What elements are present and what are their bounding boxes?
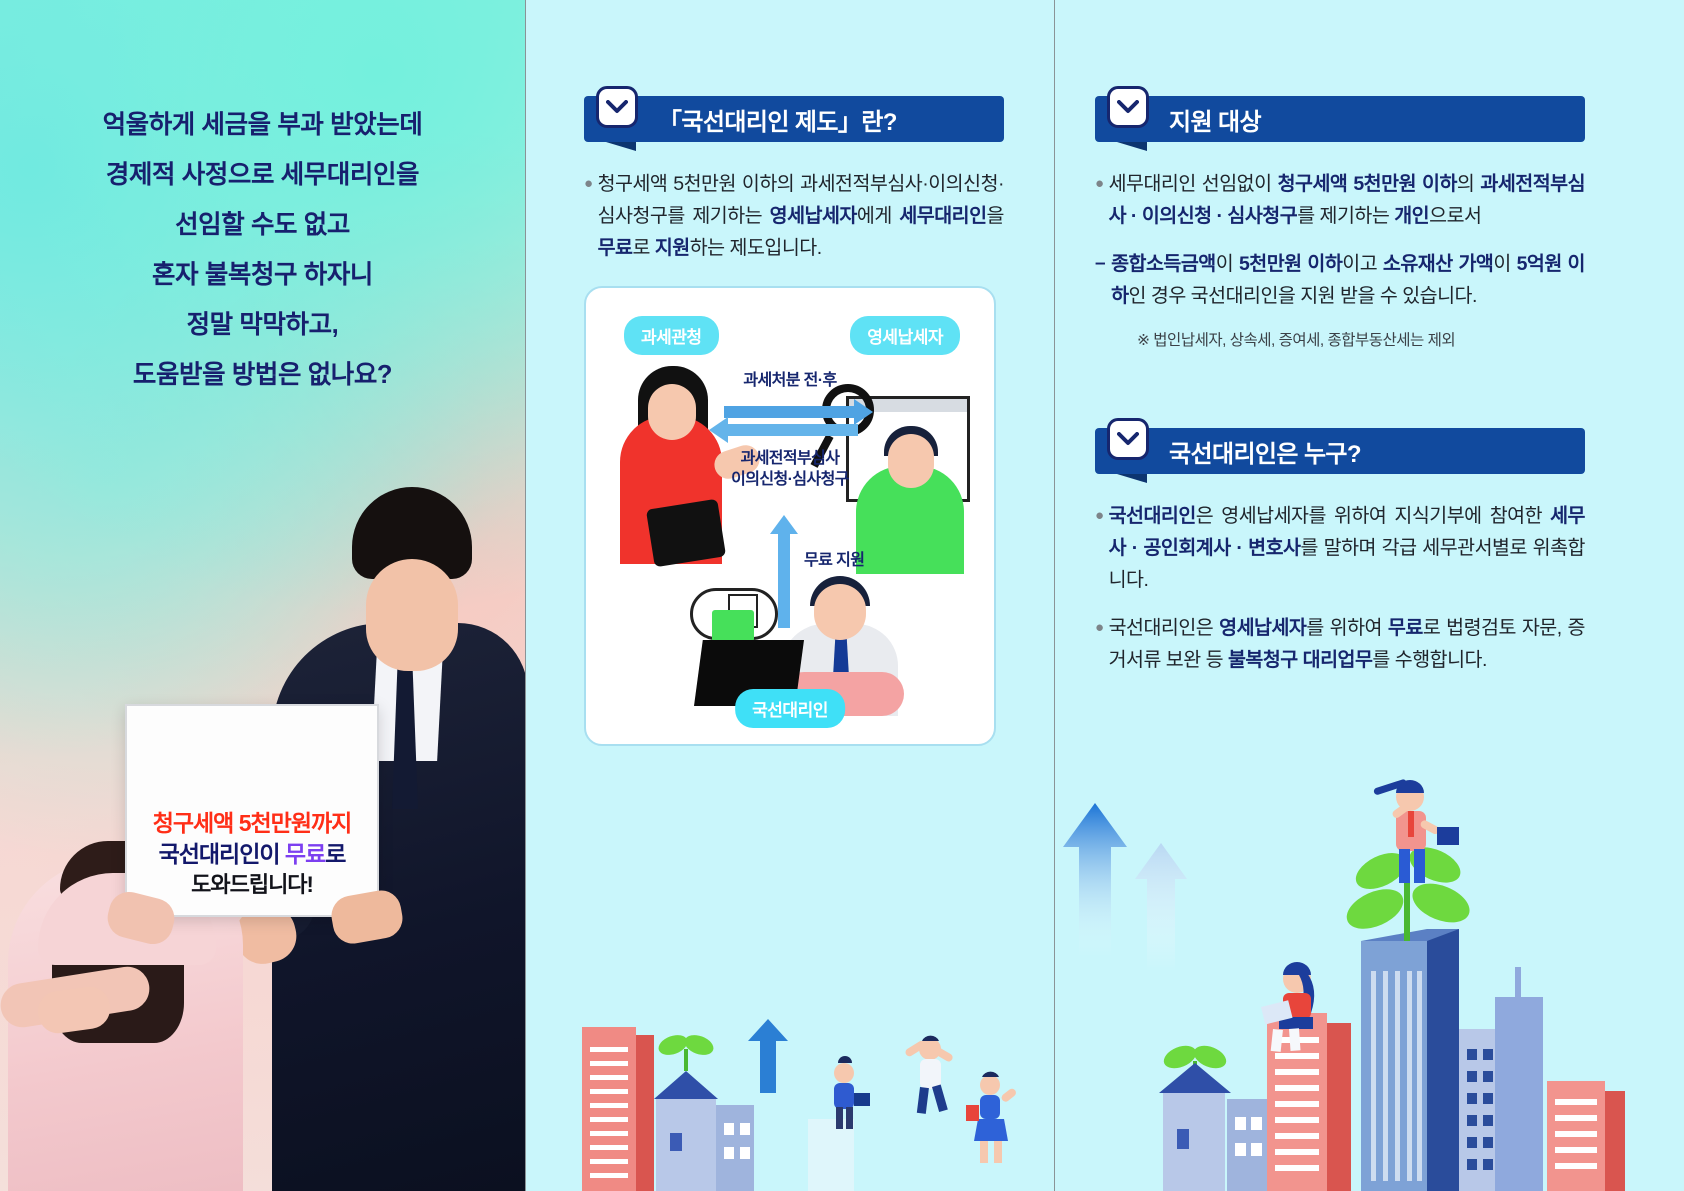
eligibility-note: ※ 법인납세자, 상속세, 증여세, 종합부동산세는 제외: [1137, 328, 1585, 350]
bullet-text: 국선대리인은 영세납세자를 위하여 지식기부에 참여한 세무사 · 공인회계사 …: [1109, 500, 1585, 596]
tax-officer-face-icon: [648, 384, 696, 440]
pill-taxpayer: 영세납세자: [850, 316, 960, 355]
placard-line-2-a: 국선대리인이: [159, 841, 285, 867]
cover-panel: 억울하게 세금을 부과 받았는데 경제적 사정으로 세무대리인을 선임할 수도 …: [0, 0, 525, 1191]
placard-line-2: 국선대리인이 무료로: [159, 839, 346, 870]
cover-headline: 억울하게 세금을 부과 받았는데 경제적 사정으로 세무대리인을 선임할 수도 …: [0, 100, 525, 400]
section-header-eligibility: 지원 대상: [1095, 96, 1585, 142]
chevron-down-icon: [1107, 418, 1149, 460]
pill-tax-office: 과세관청: [624, 316, 719, 355]
diagram-label-claims: 과세전적부심사 이의신청·심사청구: [731, 448, 849, 490]
right-panel: 지원 대상 ● 세무대리인 선임없이 청구세액 5천만원 이하의 과세전적부심사…: [1055, 0, 1684, 1191]
diagram-label-before-after: 과세처분 전·후: [743, 370, 836, 391]
middle-body: ● 청구세액 5천만원 이하의 과세전적부심사·이의신청·심사청구를 제기하는 …: [584, 168, 1004, 264]
cover-line-2: 경제적 사정으로 세무대리인을: [0, 150, 525, 200]
section-title-system: 「국선대리인 제도」란?: [658, 102, 897, 137]
placard-line-1: 청구세액 5천만원까지: [153, 808, 352, 839]
bullet-item: – 종합소득금액이 5천만원 이하이고 소유재산 가액이 5억원 이하인 경우 …: [1095, 248, 1585, 312]
section-header-system: 「국선대리인 제도」란?: [584, 96, 1004, 142]
bullet-text: 청구세액 5천만원 이하의 과세전적부심사·이의신청·심사청구를 제기하는 영세…: [598, 168, 1004, 264]
cover-line-3: 선임할 수도 없고: [0, 200, 525, 250]
bullet-text: 종합소득금액이 5천만원 이하이고 소유재산 가액이 5억원 이하인 경우 국선…: [1111, 248, 1585, 312]
middle-panel: 「국선대리인 제도」란? ● 청구세액 5천만원 이하의 과세전적부심사·이의신…: [526, 0, 1054, 1191]
bullet-item: ● 국선대리인은 영세납세자를 위하여 무료로 법령검토 자문, 증거서류 보완…: [1095, 612, 1585, 676]
bullet-dot-icon: ●: [1095, 168, 1104, 232]
brochure-page: 억울하게 세금을 부과 받았는데 경제적 사정으로 세무대리인을 선임할 수도 …: [0, 0, 1684, 1191]
bullet-item: ● 세무대리인 선임없이 청구세액 5천만원 이하의 과세전적부심사 · 이의신…: [1095, 168, 1585, 232]
bullet-dot-icon: ●: [584, 168, 593, 264]
middle-city-illustration: [526, 1001, 1054, 1191]
taxpayer-face-icon: [888, 434, 934, 488]
upload-folder-icon: [712, 610, 754, 642]
placard-line-3: 도와드립니다!: [191, 870, 313, 899]
bullet-item: ● 국선대리인은 영세납세자를 위하여 지식기부에 참여한 세무사 · 공인회계…: [1095, 500, 1585, 596]
up-arrow-icon: [778, 532, 790, 628]
who-body: ● 국선대리인은 영세납세자를 위하여 지식기부에 참여한 세무사 · 공인회계…: [1095, 500, 1585, 676]
diagram-label-claims-line2: 이의신청·심사청구: [731, 471, 849, 488]
placard-sign: 청구세액 5천만원까지 국선대리인이 무료로 도와드립니다!: [125, 704, 379, 917]
left-arrow-icon: [726, 424, 858, 436]
diagram-label-free-support: 무료 지원: [804, 550, 864, 571]
bullet-text: 세무대리인 선임없이 청구세액 5천만원 이하의 과세전적부심사 · 이의신청 …: [1109, 168, 1585, 232]
cover-line-6: 도움받을 방법은 없나요?: [0, 350, 525, 400]
process-diagram: 과세관청 영세납세자 과세처분 전·후: [584, 286, 996, 746]
right-growth-illustration: [1055, 761, 1684, 1191]
chevron-down-icon: [596, 86, 638, 128]
agent-face-icon: [814, 584, 866, 640]
section-header-who: 국선대리인은 누구?: [1095, 428, 1585, 474]
placard-free-word: 무료: [285, 841, 325, 867]
bullet-text: 국선대리인은 영세납세자를 위하여 무료로 법령검토 자문, 증거서류 보완 등…: [1109, 612, 1585, 676]
man-model-face: [366, 559, 458, 671]
cover-line-5: 정말 막막하고,: [0, 300, 525, 350]
chevron-down-icon: [1107, 86, 1149, 128]
tablet-icon: [646, 499, 726, 568]
pill-public-agent: 국선대리인: [735, 689, 845, 728]
cover-line-1: 억울하게 세금을 부과 받았는데: [0, 100, 525, 150]
bullet-dot-icon: ●: [1095, 612, 1104, 676]
bullet-item: ● 청구세액 5천만원 이하의 과세전적부심사·이의신청·심사청구를 제기하는 …: [584, 168, 1004, 264]
bullet-dash-icon: –: [1095, 248, 1105, 312]
bullet-dot-icon: ●: [1095, 500, 1104, 596]
diagram-label-claims-line1: 과세전적부심사: [741, 450, 840, 467]
person-jumping: [904, 1036, 954, 1114]
eligibility-body: ● 세무대리인 선임없이 청구세액 5천만원 이하의 과세전적부심사 · 이의신…: [1095, 168, 1585, 350]
cover-line-4: 혼자 불복청구 하자니: [0, 250, 525, 300]
person-walking: [834, 1056, 870, 1129]
section-title-eligibility: 지원 대상: [1169, 102, 1261, 137]
person-running: [966, 1072, 1018, 1163]
placard-line-2-b: 로: [325, 841, 345, 867]
right-arrow-icon: [724, 406, 856, 418]
section-title-who: 국선대리인은 누구?: [1169, 434, 1361, 469]
